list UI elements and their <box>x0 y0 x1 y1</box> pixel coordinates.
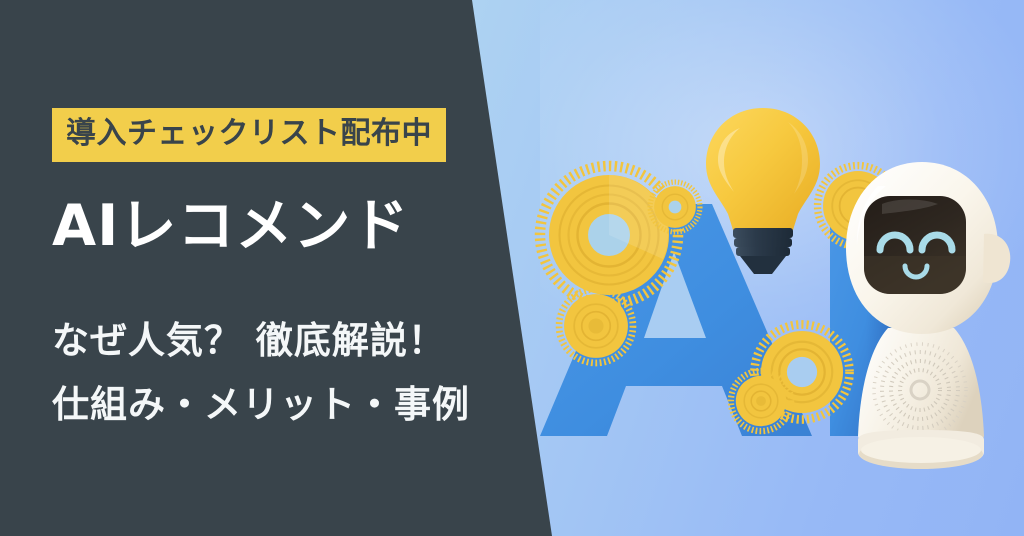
checklist-badge: 導入チェックリスト配布中 <box>52 108 446 162</box>
gear-small-left-icon <box>554 284 638 368</box>
gear-tiny-top-icon <box>646 178 704 236</box>
subtitle-block: なぜ人気？ 徹底解説！ 仕組み・メリット・事例 <box>52 309 470 436</box>
robot-mascot-icon <box>826 152 1024 482</box>
gear-small-center-icon <box>726 366 796 436</box>
light-bulb-icon <box>700 104 826 276</box>
text-block: 導入チェックリスト配布中 AIレコメンド なぜ人気？ 徹底解説！ 仕組み・メリッ… <box>52 0 472 536</box>
subtitle-line-2: 仕組み・メリット・事例 <box>52 373 470 437</box>
subtitle-line-1: なぜ人気？ 徹底解説！ <box>52 309 470 373</box>
page-title: AIレコメンド <box>52 196 409 258</box>
banner-canvas: 導入チェックリスト配布中 AIレコメンド なぜ人気？ 徹底解説！ 仕組み・メリッ… <box>0 0 1024 536</box>
